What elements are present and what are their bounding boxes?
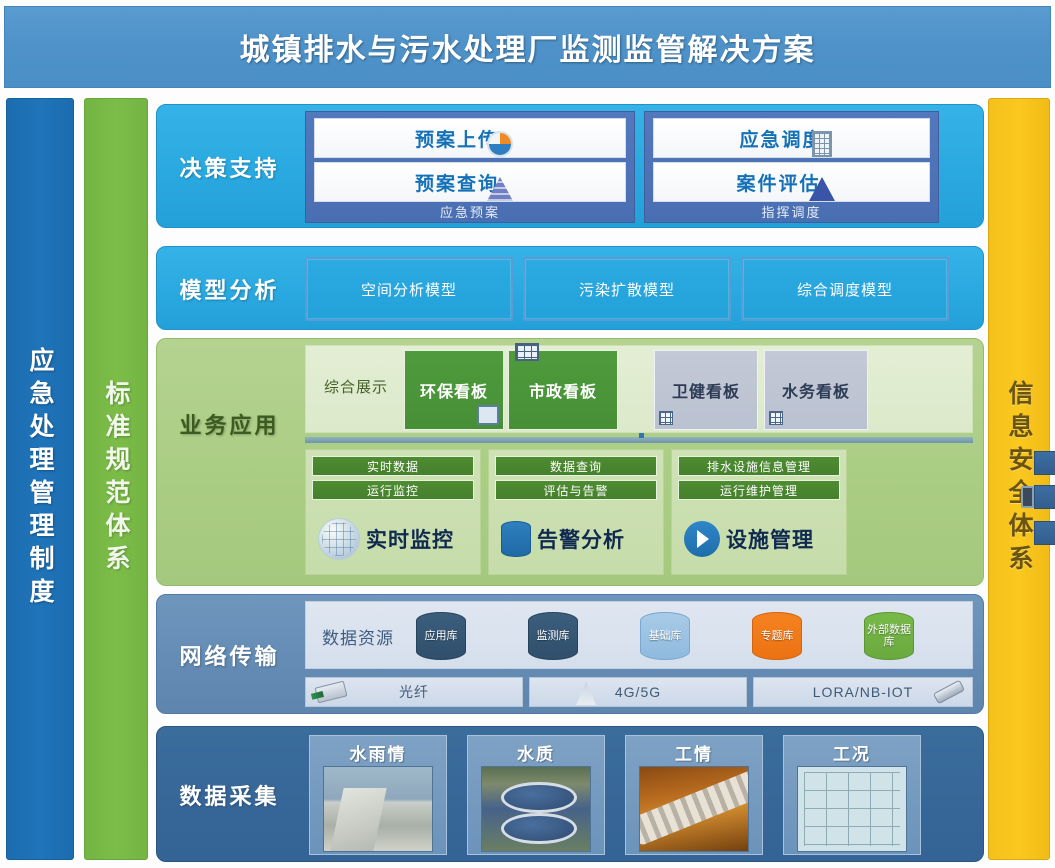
treatment-tanks-photo [481, 766, 591, 852]
business-column-monitoring: 实时数据 运行监控 实时监控 [305, 449, 481, 575]
business-feature-realtime-monitoring[interactable]: 实时监控 [312, 508, 474, 570]
business-column-facility: 排水设施信息管理 运行维护管理 设施管理 [671, 449, 847, 575]
monitor-icon [477, 405, 499, 425]
header-banner: 城镇排水与污水处理厂监测监管解决方案 [4, 6, 1051, 88]
database-monitoring[interactable]: 监测库 [528, 612, 578, 660]
data-resources-box: 数据资源 应用库 监测库 基础库 专题库 外部数据库 [305, 601, 973, 669]
dashboard-card-label: 市政看板 [529, 378, 597, 402]
data-acquisition-label: 数据采集 [157, 771, 302, 819]
display-rail-divider [305, 437, 973, 443]
business-tag[interactable]: 数据查询 [495, 456, 657, 476]
network-link-fiber[interactable]: 光纤 [305, 677, 523, 707]
database-basic[interactable]: 基础库 [640, 612, 690, 660]
network-link-label: 光纤 [399, 682, 429, 702]
grid-table-icon [812, 131, 832, 157]
network-link-lora[interactable]: LORA/NB-IOT [753, 677, 973, 707]
database-external[interactable]: 外部数据库 [864, 612, 914, 660]
antenna-tower-icon [576, 681, 596, 705]
terminal-button-microservice[interactable]: 微服务 [1034, 521, 1055, 545]
fiber-cable-icon [315, 681, 348, 704]
rail-marker [639, 433, 644, 438]
business-application-panel: 业务应用 综合展示 环保看板 市政看板 卫健看板 水务看板 [156, 338, 984, 586]
globe-icon [318, 518, 360, 560]
network-link-label: 4G/5G [615, 684, 661, 700]
decision-group-footer: 应急预案 [306, 202, 634, 220]
play-circle-icon [684, 521, 720, 557]
pillar-information-security: 信息安全体系 [988, 98, 1050, 860]
terminal-button-mobile[interactable]: 移动端 [1034, 485, 1055, 509]
terminal-button-pc[interactable]: PC端 [1034, 451, 1055, 475]
page-title: 城镇排水与污水处理厂监测监管解决方案 [5, 7, 1050, 87]
business-tag[interactable]: 评估与告警 [495, 480, 657, 500]
dashboard-card-label: 环保看板 [420, 378, 488, 402]
pipeline-trench-photo [639, 766, 749, 852]
acquisition-card-engineering[interactable]: 工情 [625, 735, 763, 855]
business-feature-label: 实时监控 [366, 524, 454, 554]
decision-item-label: 预案查询 [415, 169, 499, 196]
business-tag[interactable]: 运行维护管理 [678, 480, 840, 500]
scada-diagram-photo [797, 766, 907, 852]
business-feature-label: 告警分析 [537, 524, 625, 554]
decision-item-plan-upload[interactable]: 预案上传 [314, 118, 626, 158]
pillar-standard-system: 标准规范体系 [84, 98, 148, 860]
decision-item-emergency-dispatch[interactable]: 应急调度 [653, 118, 930, 158]
decision-item-label: 预案上传 [415, 125, 499, 152]
acquisition-card-label: 工情 [629, 739, 759, 765]
business-column-alarm: 数据查询 评估与告警 告警分析 [488, 449, 664, 575]
model-box-pollution-diffusion[interactable]: 污染扩散模型 [523, 257, 731, 321]
business-tag[interactable]: 运行监控 [312, 480, 474, 500]
acquisition-card-operating-condition[interactable]: 工况 [783, 735, 921, 855]
decision-item-case-evaluation[interactable]: 案件评估 [653, 162, 930, 202]
database-drum-icon [501, 521, 531, 557]
data-acquisition-panel: 数据采集 水雨情 水质 工情 工况 [156, 726, 984, 862]
riverbank-photo [323, 766, 433, 852]
diagram-root: 城镇排水与污水处理厂监测监管解决方案 应急处理管理制度 标准规范体系 信息安全体… [0, 0, 1055, 868]
database-application[interactable]: 应用库 [416, 612, 466, 660]
model-box-spatial[interactable]: 空间分析模型 [305, 257, 513, 321]
comprehensive-display-title: 综合展示 [314, 376, 398, 397]
circular-gauge-icon [487, 131, 513, 157]
acquisition-card-rainfall[interactable]: 水雨情 [309, 735, 447, 855]
decision-support-panel: 决策支持 预案上传 预案查询 应急预案 应急调度 案件评估 指挥调度 [156, 104, 984, 228]
screen-icon [515, 343, 539, 361]
model-analysis-panel: 模型分析 空间分析模型 污染扩散模型 综合调度模型 [156, 246, 984, 330]
mini-grid-icon [659, 411, 673, 425]
dashboard-card-environment[interactable]: 环保看板 [404, 350, 504, 430]
decision-item-plan-query[interactable]: 预案查询 [314, 162, 626, 202]
business-tag[interactable]: 实时数据 [312, 456, 474, 476]
dashboard-card-label: 水务看板 [782, 378, 850, 402]
business-feature-label: 设施管理 [726, 524, 814, 554]
database-thematic[interactable]: 专题库 [752, 612, 802, 660]
acquisition-card-label: 工况 [787, 739, 917, 765]
blue-pyramid-icon [809, 177, 835, 201]
model-analysis-label: 模型分析 [157, 247, 302, 331]
pillar-emergency-management: 应急处理管理制度 [6, 98, 74, 860]
dashboard-card-water-affairs[interactable]: 水务看板 [764, 350, 868, 430]
dashboard-card-label: 卫健看板 [672, 378, 740, 402]
decision-group-emergency-plan: 预案上传 预案查询 应急预案 [305, 111, 635, 223]
acquisition-card-water-quality[interactable]: 水质 [467, 735, 605, 855]
model-box-integrated-dispatch[interactable]: 综合调度模型 [741, 257, 949, 321]
acquisition-card-label: 水质 [471, 739, 601, 765]
business-application-label: 业务应用 [157, 399, 302, 449]
network-transmission-label: 网络传输 [157, 631, 302, 679]
business-feature-facility-management[interactable]: 设施管理 [678, 508, 840, 570]
acquisition-card-label: 水雨情 [313, 739, 443, 765]
mobile-phone-icon [1021, 486, 1034, 508]
dashboard-card-health[interactable]: 卫健看板 [654, 350, 758, 430]
decision-group-footer: 指挥调度 [645, 202, 938, 220]
decision-support-label: 决策支持 [157, 105, 302, 229]
network-link-cellular[interactable]: 4G/5G [529, 677, 747, 707]
dashboard-card-municipal[interactable]: 市政看板 [508, 350, 618, 430]
data-resources-title: 数据资源 [312, 624, 404, 649]
business-tag[interactable]: 排水设施信息管理 [678, 456, 840, 476]
business-feature-alarm-analysis[interactable]: 告警分析 [495, 508, 657, 570]
mini-grid-icon [769, 411, 783, 425]
comprehensive-display-strip: 综合展示 环保看板 市政看板 卫健看板 水务看板 [305, 345, 973, 433]
network-transmission-panel: 网络传输 数据资源 应用库 监测库 基础库 专题库 外部数据库 光纤 4G/5G… [156, 594, 984, 714]
network-link-label: LORA/NB-IOT [813, 684, 913, 700]
decision-group-command-dispatch: 应急调度 案件评估 指挥调度 [644, 111, 939, 223]
sensor-icon [933, 680, 965, 705]
